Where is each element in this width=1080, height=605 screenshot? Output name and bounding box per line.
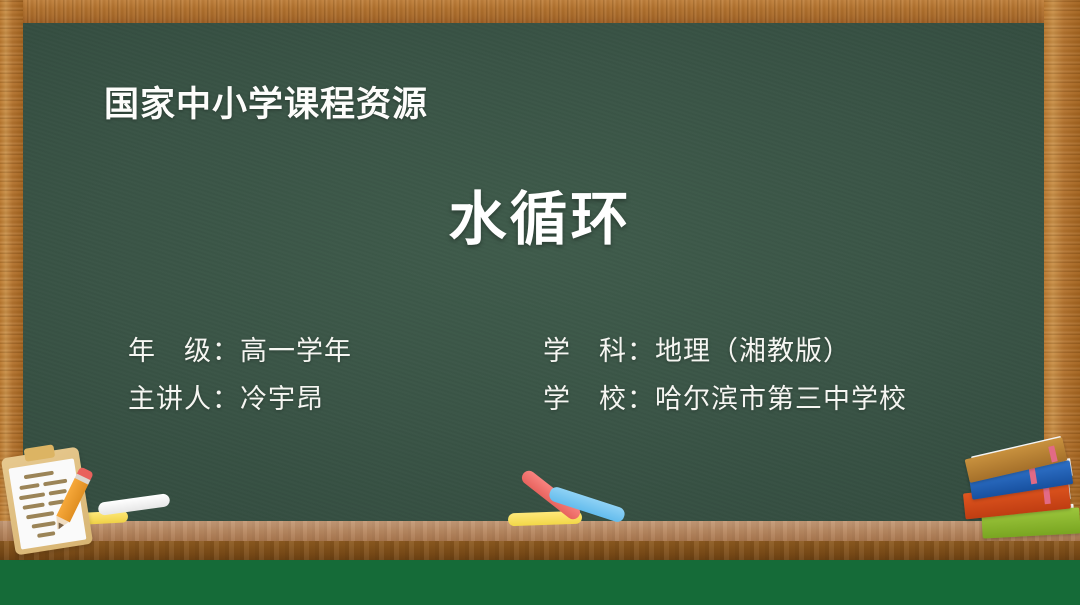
presenter-value: 冷宇昂 xyxy=(240,384,324,415)
subject-field: 学 科：地理（湘教版） xyxy=(543,328,958,376)
metadata-row-2: 主讲人：冷宇昂 学 校：哈尔滨市第三中学校 xyxy=(128,376,988,424)
grade-label: 年 级： xyxy=(128,336,240,367)
clipboard-text-line xyxy=(19,483,39,490)
lesson-title: 水循环 xyxy=(0,172,1080,256)
presenter-label: 主讲人： xyxy=(128,384,240,415)
clipboard-text-line xyxy=(37,531,55,538)
subject-value: 地理（湘教版） xyxy=(655,336,851,367)
clipboard-text-line xyxy=(19,492,45,500)
frame-top-beam xyxy=(0,0,1080,23)
clipboard-text-line xyxy=(22,502,44,509)
clipboard-text-line xyxy=(43,479,67,487)
school-label: 学 校： xyxy=(543,384,655,415)
book-stack-icon xyxy=(956,442,1080,552)
subject-label: 学 科： xyxy=(543,336,655,367)
clipboard-icon xyxy=(1,447,93,556)
lesson-metadata: 年 级：高一学年 学 科：地理（湘教版） 主讲人：冷宇昂 学 校：哈尔滨市第三中… xyxy=(128,328,988,424)
brand-title: 国家中小学课程资源 xyxy=(104,76,428,127)
left-decoration-group xyxy=(0,440,175,550)
presenter-field: 主讲人：冷宇昂 xyxy=(128,376,543,424)
clipboard-clip-icon xyxy=(24,444,56,462)
metadata-row-1: 年 级：高一学年 学 科：地理（湘教版） xyxy=(128,328,988,376)
grade-value: 高一学年 xyxy=(240,336,352,367)
school-value: 哈尔滨市第三中学校 xyxy=(655,384,907,415)
clipboard-text-line xyxy=(49,489,67,496)
clipboard-text-line xyxy=(24,471,54,480)
chalk-stick-white-left-icon xyxy=(97,493,170,516)
slide-root: 国家中小学课程资源 水循环 年 级：高一学年 学 科：地理（湘教版） 主讲人：冷… xyxy=(0,0,1080,605)
grade-field: 年 级：高一学年 xyxy=(128,328,543,376)
school-field: 学 校：哈尔滨市第三中学校 xyxy=(543,376,958,424)
clipboard-text-line xyxy=(26,511,54,519)
bottom-green-band xyxy=(0,560,1080,605)
